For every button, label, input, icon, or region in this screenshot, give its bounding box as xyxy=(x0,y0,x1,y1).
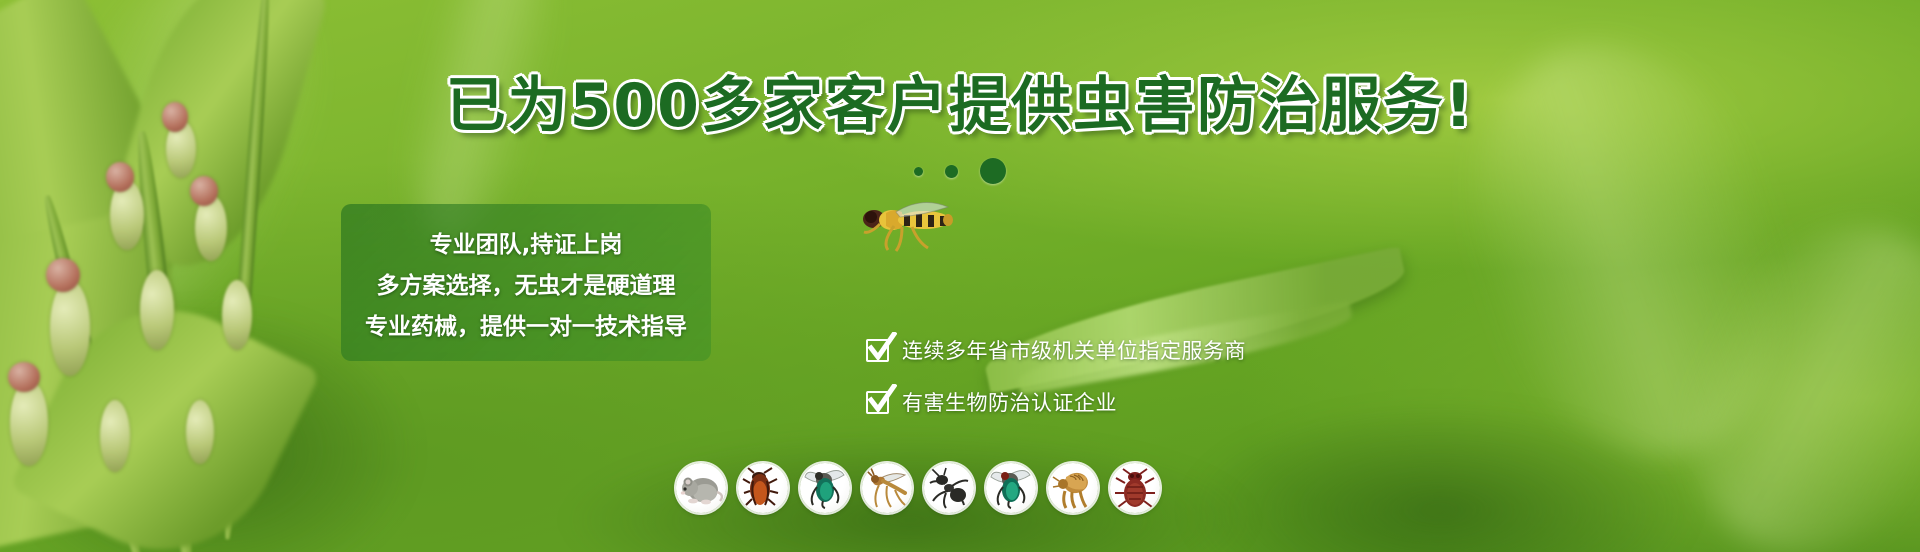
credential-label: 有害生物防治认证企业 xyxy=(902,387,1117,417)
bedbug-icon[interactable] xyxy=(1110,463,1160,513)
decorative-dot-large xyxy=(980,158,1006,184)
cockroach-icon[interactable] xyxy=(738,463,788,513)
list-item: 有害生物防治认证企业 xyxy=(866,387,1386,417)
flea-icon[interactable] xyxy=(1048,463,1098,513)
pest-icon-row xyxy=(676,463,1160,513)
credential-list: 连续多年省市级机关单位指定服务商 有害生物防治认证企业 xyxy=(866,335,1386,439)
feature-line-3: 专业药械，提供一对一技术指导 xyxy=(347,307,705,341)
promo-banner: 已为500多家客户提供虫害防治服务! 专业团队,持证上岗 多方案选择，无虫才是硬… xyxy=(0,0,1920,552)
decorative-dot-medium xyxy=(945,165,958,178)
fly-icon[interactable] xyxy=(800,463,850,513)
blowfly-icon[interactable] xyxy=(986,463,1036,513)
mouse-icon[interactable] xyxy=(676,463,726,513)
headline-container: 已为500多家客户提供虫害防治服务! xyxy=(0,76,1920,136)
checkbox-checked-icon xyxy=(866,391,889,414)
list-item: 连续多年省市级机关单位指定服务商 xyxy=(866,335,1386,365)
credential-label: 连续多年省市级机关单位指定服务商 xyxy=(902,335,1246,365)
page-title: 已为500多家客户提供虫害防治服务! xyxy=(446,76,1475,136)
ant-icon[interactable] xyxy=(924,463,974,513)
decorative-dot-small xyxy=(914,167,923,176)
feature-line-2: 多方案选择，无虫才是硬道理 xyxy=(347,266,705,300)
hoverfly-icon xyxy=(852,198,962,256)
feature-line-1: 专业团队,持证上岗 xyxy=(347,225,705,259)
feature-panel-text: 专业团队,持证上岗 多方案选择，无虫才是硬道理 专业药械，提供一对一技术指导 xyxy=(341,204,711,361)
checkbox-checked-icon xyxy=(866,339,889,362)
decorative-dot-row xyxy=(0,158,1920,184)
mosquito-icon[interactable] xyxy=(862,463,912,513)
